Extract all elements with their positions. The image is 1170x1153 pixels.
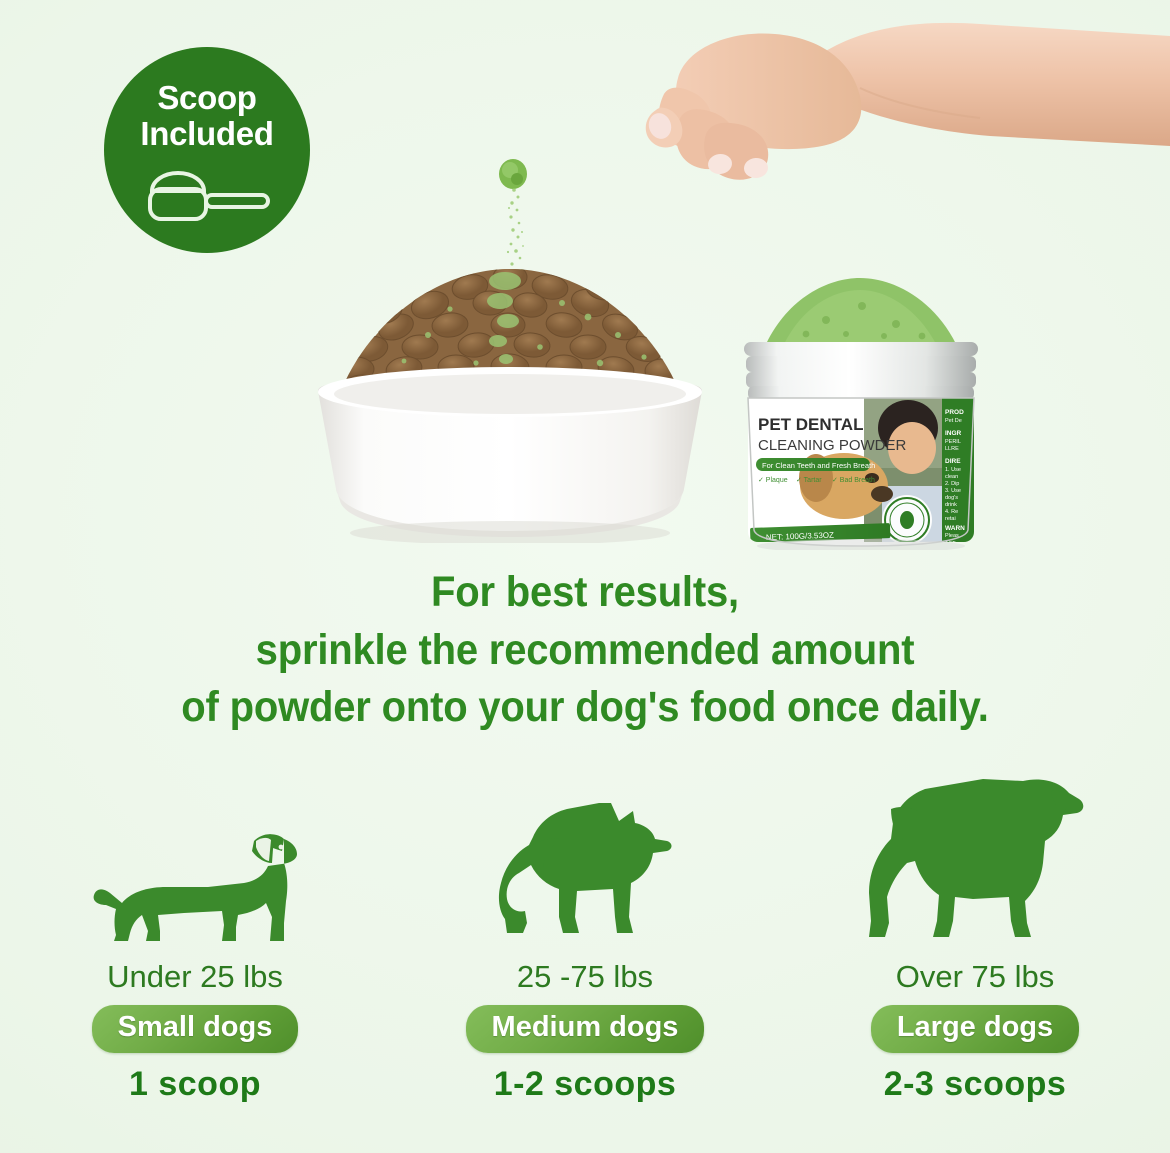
headline-line-2: sprinkle the recommended amount <box>41 622 1129 680</box>
svg-text:PROD: PROD <box>945 409 964 416</box>
svg-text:INGR: INGR <box>945 430 962 437</box>
jar-title-line2: CLEANING POWDER <box>758 437 907 454</box>
dose-weight-small: Under 25 lbs <box>107 961 283 992</box>
product-jar: PROD Pet De INGR PERIL LLRE DIRE 1. Use … <box>736 272 986 550</box>
badge-line-1: Scoop <box>157 80 256 116</box>
dose-weight-large: Over 75 lbs <box>896 961 1055 992</box>
svg-text:WARN: WARN <box>945 525 965 532</box>
benefit-plaque: ✓ Plaque <box>758 477 788 484</box>
large-dog-labrador-silhouette <box>863 770 1088 945</box>
svg-text:LLRE: LLRE <box>945 446 959 452</box>
dosage-column-medium: 25 -75 lbs Medium dogs 1-2 scoops <box>390 770 780 1110</box>
dose-weight-medium: 25 -75 lbs <box>517 961 653 992</box>
svg-text:1. Use: 1. Use <box>945 467 961 473</box>
benefit-tartar: ✓ Tartar <box>796 477 822 484</box>
scoop-icon <box>132 163 282 221</box>
dose-amount-large: 2-3 scoops <box>884 1067 1067 1101</box>
dog-food-bowl <box>300 243 720 543</box>
scoop-included-badge: Scoop Included <box>104 47 310 253</box>
small-dog-dachshund-silhouette <box>88 770 303 945</box>
infographic-canvas: Scoop Included <box>0 0 1170 1153</box>
svg-text:dog's: dog's <box>945 495 958 501</box>
jar-tagline: For Clean Teeth and Fresh Breath <box>762 461 875 470</box>
medium-dog-shiba-silhouette <box>493 770 678 945</box>
dosage-column-large: Over 75 lbs Large dogs 2-3 scoops <box>780 770 1170 1110</box>
svg-text:2. Dip: 2. Dip <box>945 481 959 487</box>
svg-text:retai: retai <box>945 516 956 522</box>
dose-pill-large: Large dogs <box>871 1005 1079 1053</box>
powder-mound <box>766 278 956 344</box>
badge-line-2: Included <box>140 116 273 152</box>
headline-line-3: of powder onto your dog's food once dail… <box>41 679 1129 737</box>
dose-amount-small: 1 scoop <box>129 1067 261 1101</box>
svg-text:4. Re: 4. Re <box>945 509 958 515</box>
hand-sprinkling-powder <box>560 18 1170 218</box>
svg-text:clean: clean <box>945 474 958 480</box>
dose-amount-medium: 1-2 scoops <box>494 1067 677 1101</box>
dosage-chart: Under 25 lbs Small dogs 1 scoop 25 -75 l… <box>0 770 1170 1110</box>
dose-pill-small: Small dogs <box>92 1005 299 1053</box>
jar-title-line1: PET DENTAL <box>758 415 863 434</box>
svg-text:drink: drink <box>945 502 957 508</box>
svg-text:3. Use: 3. Use <box>945 488 961 494</box>
dose-pill-medium: Medium dogs <box>466 1005 705 1053</box>
headline-line-1: For best results, <box>41 564 1129 622</box>
svg-text:PERIL: PERIL <box>945 439 961 445</box>
svg-text:Pet De: Pet De <box>945 418 962 424</box>
page-headline: For best results, sprinkle the recommend… <box>41 564 1129 737</box>
benefit-bad-breath: ✓ Bad Breath <box>832 477 875 484</box>
dosage-column-small: Under 25 lbs Small dogs 1 scoop <box>0 770 390 1110</box>
svg-text:DIRE: DIRE <box>945 458 961 465</box>
